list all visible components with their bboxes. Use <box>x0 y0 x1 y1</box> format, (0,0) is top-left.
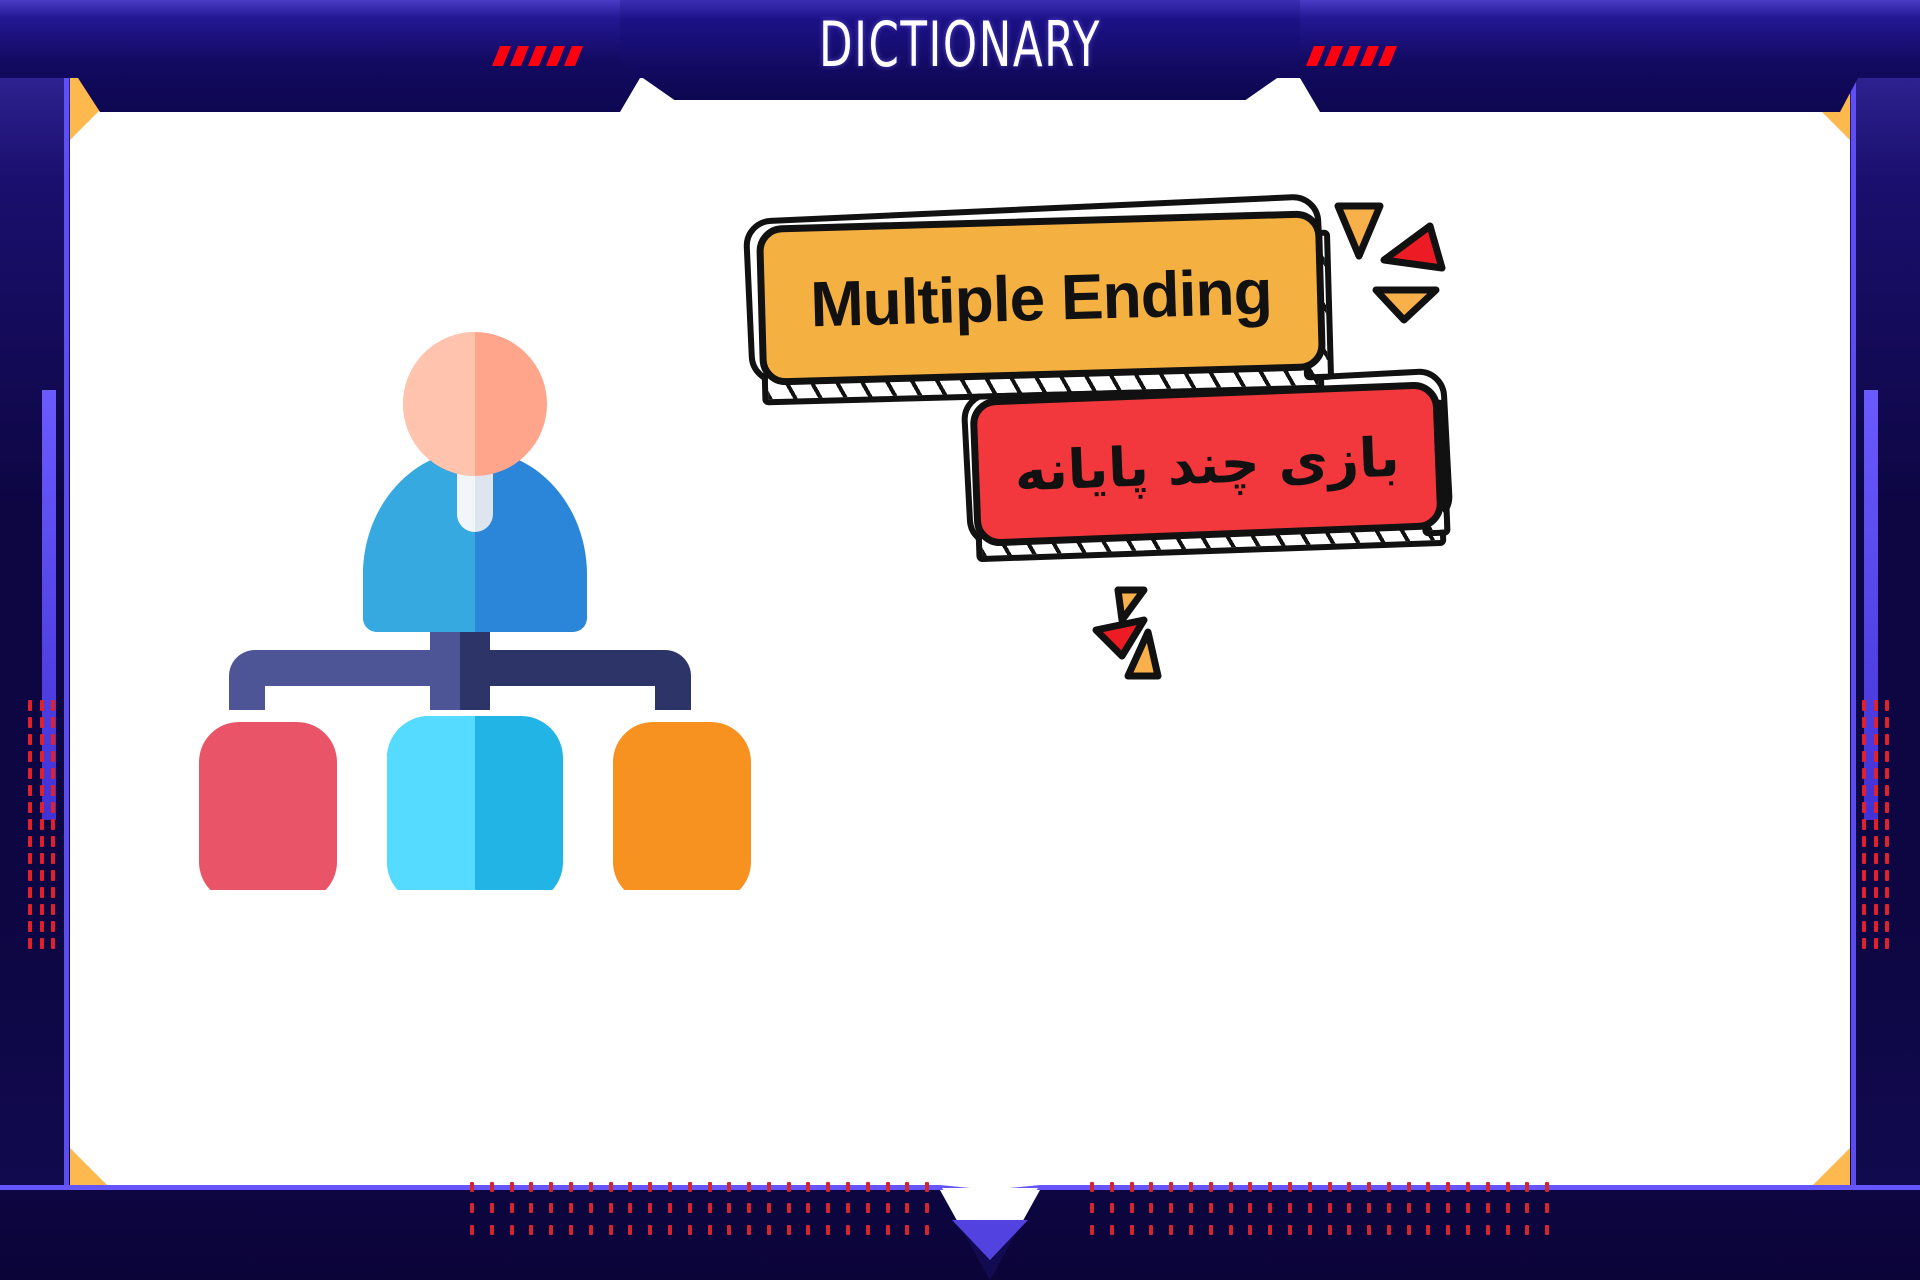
dot <box>1347 1182 1351 1192</box>
dot <box>826 1225 830 1235</box>
dot <box>925 1203 929 1213</box>
side-dot-grid-left <box>28 700 58 930</box>
dot <box>1874 836 1878 847</box>
dot <box>40 768 44 779</box>
dot <box>470 1182 474 1192</box>
dot <box>28 700 32 711</box>
dot <box>1862 904 1866 915</box>
dot <box>1347 1203 1351 1213</box>
dot <box>1874 921 1878 932</box>
dot <box>806 1182 810 1192</box>
dot <box>1486 1225 1490 1235</box>
dot <box>1885 819 1889 830</box>
dot <box>1110 1203 1114 1213</box>
dot <box>846 1182 850 1192</box>
dot <box>1229 1203 1233 1213</box>
dot <box>549 1225 553 1235</box>
sparkle-cluster-top-right <box>1318 198 1468 328</box>
dot <box>886 1225 890 1235</box>
dot <box>648 1225 652 1235</box>
dot <box>1229 1182 1233 1192</box>
dot <box>1189 1225 1193 1235</box>
dot <box>51 938 55 949</box>
english-term-label: Multiple Ending <box>809 255 1272 342</box>
org-chart-svg <box>195 330 755 890</box>
dot <box>28 717 32 728</box>
dot <box>529 1225 533 1235</box>
dot <box>1506 1225 1510 1235</box>
dot <box>1506 1182 1510 1192</box>
dot <box>40 717 44 728</box>
dot <box>1149 1203 1153 1213</box>
dot <box>747 1182 751 1192</box>
dot <box>846 1203 850 1213</box>
dot <box>866 1225 870 1235</box>
dot <box>668 1225 672 1235</box>
dot <box>569 1225 573 1235</box>
dot <box>51 751 55 762</box>
dot <box>1874 819 1878 830</box>
dot <box>905 1182 909 1192</box>
dot <box>51 785 55 796</box>
hash-mark <box>1342 46 1361 66</box>
dot <box>51 802 55 813</box>
dot <box>787 1182 791 1192</box>
dot <box>866 1182 870 1192</box>
dot <box>40 853 44 864</box>
dot <box>28 904 32 915</box>
dot <box>28 870 32 881</box>
dot <box>1525 1182 1529 1192</box>
page-title: DICTIONARY <box>695 8 1225 81</box>
dot <box>40 802 44 813</box>
dot <box>1308 1225 1312 1235</box>
dot <box>1885 751 1889 762</box>
hashmarks-right <box>1310 46 1393 66</box>
dot <box>688 1225 692 1235</box>
dot <box>1874 768 1878 779</box>
dot <box>549 1203 553 1213</box>
footer-dot-grid-right <box>1090 1182 1560 1242</box>
sparkle-cluster-bottom-left <box>1086 576 1216 696</box>
dot <box>470 1203 474 1213</box>
dot <box>826 1182 830 1192</box>
dot <box>846 1225 850 1235</box>
dot <box>1347 1225 1351 1235</box>
dot <box>1885 717 1889 728</box>
dot <box>51 717 55 728</box>
dot <box>1545 1225 1549 1235</box>
dot <box>28 802 32 813</box>
dot <box>28 853 32 864</box>
dot <box>727 1203 731 1213</box>
dot <box>1268 1182 1272 1192</box>
dot <box>1268 1225 1272 1235</box>
dot <box>28 921 32 932</box>
dot <box>1189 1203 1193 1213</box>
hash-mark <box>1360 46 1379 66</box>
dot <box>1862 785 1866 796</box>
dot <box>609 1225 613 1235</box>
dot <box>51 853 55 864</box>
english-term-label-box[interactable]: Multiple Ending <box>756 210 1326 386</box>
sparkle-cluster-top-right-svg <box>1318 198 1468 328</box>
dot <box>787 1225 791 1235</box>
dot <box>609 1203 613 1213</box>
dot <box>510 1203 514 1213</box>
dot <box>1090 1182 1094 1192</box>
dot <box>589 1225 593 1235</box>
dot <box>1862 802 1866 813</box>
dot <box>609 1182 613 1192</box>
dot <box>1525 1203 1529 1213</box>
dot <box>40 700 44 711</box>
dot <box>40 938 44 949</box>
dot <box>1189 1182 1193 1192</box>
dot <box>1130 1182 1134 1192</box>
dot <box>1407 1225 1411 1235</box>
dot <box>1874 734 1878 745</box>
dot <box>490 1203 494 1213</box>
dot <box>708 1182 712 1192</box>
dot <box>866 1203 870 1213</box>
dot <box>1862 751 1866 762</box>
dot <box>1506 1203 1510 1213</box>
dot <box>1426 1225 1430 1235</box>
dot <box>1130 1225 1134 1235</box>
dot <box>1367 1182 1371 1192</box>
dot <box>1885 836 1889 847</box>
hash-mark <box>528 46 547 66</box>
dot <box>747 1203 751 1213</box>
dot <box>40 751 44 762</box>
dot <box>28 836 32 847</box>
dot <box>1486 1182 1490 1192</box>
dot <box>1885 768 1889 779</box>
dot <box>1874 751 1878 762</box>
dot <box>40 819 44 830</box>
dot <box>1862 734 1866 745</box>
node-right <box>613 722 751 890</box>
dot <box>1874 785 1878 796</box>
dot <box>1328 1203 1332 1213</box>
dot <box>1308 1182 1312 1192</box>
dot <box>886 1182 890 1192</box>
dot <box>28 785 32 796</box>
dot <box>1525 1225 1529 1235</box>
dot <box>1885 700 1889 711</box>
dot <box>1367 1225 1371 1235</box>
dot <box>28 768 32 779</box>
dot <box>628 1182 632 1192</box>
dot <box>40 870 44 881</box>
dot <box>1407 1182 1411 1192</box>
dot <box>1169 1225 1173 1235</box>
persian-term-label-box[interactable]: بازی چند پایانه <box>969 381 1444 547</box>
dot <box>1545 1203 1549 1213</box>
dot <box>1874 802 1878 813</box>
dot <box>1862 819 1866 830</box>
dot <box>40 785 44 796</box>
dot <box>1248 1225 1252 1235</box>
dot <box>1486 1203 1490 1213</box>
dot <box>648 1182 652 1192</box>
dot <box>1446 1203 1450 1213</box>
dot <box>1862 853 1866 864</box>
dot <box>51 700 55 711</box>
dot <box>925 1182 929 1192</box>
dot <box>1885 921 1889 932</box>
dot <box>1288 1182 1292 1192</box>
side-dot-grid-right <box>1862 700 1892 930</box>
dot <box>708 1203 712 1213</box>
dot <box>40 904 44 915</box>
dot <box>727 1225 731 1235</box>
dot <box>1328 1225 1332 1235</box>
dot <box>767 1225 771 1235</box>
dot <box>589 1182 593 1192</box>
hash-mark <box>1324 46 1343 66</box>
dot <box>1874 853 1878 864</box>
dot <box>28 734 32 745</box>
dot <box>1885 853 1889 864</box>
dot <box>490 1182 494 1192</box>
dot <box>648 1203 652 1213</box>
dot <box>1862 836 1866 847</box>
dot <box>1874 870 1878 881</box>
dot <box>1328 1182 1332 1192</box>
dot <box>28 751 32 762</box>
dot <box>529 1182 533 1192</box>
dot <box>1874 700 1878 711</box>
dot <box>1862 887 1866 898</box>
dot <box>1110 1225 1114 1235</box>
header-title-tab: DICTIONARY <box>620 0 1300 100</box>
dot <box>51 887 55 898</box>
footer-dot-grid-left <box>470 1182 940 1242</box>
dot <box>787 1203 791 1213</box>
dot <box>1446 1182 1450 1192</box>
dot <box>1090 1203 1094 1213</box>
dot <box>51 921 55 932</box>
dot <box>826 1203 830 1213</box>
dot <box>1169 1182 1173 1192</box>
dot <box>1885 938 1889 949</box>
dot <box>40 921 44 932</box>
dot <box>668 1182 672 1192</box>
dot <box>806 1203 810 1213</box>
dot <box>1387 1225 1391 1235</box>
dot <box>549 1182 553 1192</box>
dot <box>727 1182 731 1192</box>
dot <box>28 938 32 949</box>
dot <box>510 1182 514 1192</box>
dot <box>1149 1182 1153 1192</box>
dot <box>1885 904 1889 915</box>
dot <box>1885 785 1889 796</box>
dot <box>28 819 32 830</box>
dot <box>569 1182 573 1192</box>
hash-mark <box>510 46 529 66</box>
dot <box>1874 938 1878 949</box>
dot <box>51 904 55 915</box>
dot <box>1288 1225 1292 1235</box>
dot <box>1446 1225 1450 1235</box>
org-chart-person-icon <box>195 330 755 890</box>
sparkle-triangle-yellow-2 <box>1376 290 1436 320</box>
dot <box>925 1225 929 1235</box>
dot <box>905 1203 909 1213</box>
node-center-left <box>387 716 475 890</box>
dot <box>490 1225 494 1235</box>
dot <box>1545 1182 1549 1192</box>
dot <box>806 1225 810 1235</box>
dot <box>1209 1203 1213 1213</box>
dot <box>1308 1203 1312 1213</box>
dot <box>1248 1182 1252 1192</box>
sparkle-triangle-yellow <box>1118 590 1144 620</box>
dot <box>628 1203 632 1213</box>
dot <box>1466 1225 1470 1235</box>
dot <box>1426 1182 1430 1192</box>
dot <box>1874 717 1878 728</box>
dot <box>767 1182 771 1192</box>
dot <box>668 1203 672 1213</box>
dot <box>747 1225 751 1235</box>
dot <box>1862 700 1866 711</box>
dot <box>688 1203 692 1213</box>
dot <box>1874 904 1878 915</box>
dot <box>1407 1203 1411 1213</box>
dot <box>28 887 32 898</box>
dot <box>529 1203 533 1213</box>
dot <box>51 819 55 830</box>
dot <box>767 1203 771 1213</box>
dot <box>628 1225 632 1235</box>
slide-root: DICTIONARY <box>0 0 1920 1280</box>
sparkle-cluster-bottom-left-svg <box>1086 576 1216 696</box>
dot <box>1862 870 1866 881</box>
dot <box>40 887 44 898</box>
persian-term-label: بازی چند پایانه <box>1013 425 1400 503</box>
dot <box>1169 1203 1173 1213</box>
dot <box>589 1203 593 1213</box>
hash-mark <box>546 46 565 66</box>
dot <box>569 1203 573 1213</box>
dot <box>1426 1203 1430 1213</box>
dot <box>1874 887 1878 898</box>
dot <box>1288 1203 1292 1213</box>
dot <box>510 1225 514 1235</box>
dot <box>1209 1225 1213 1235</box>
dot <box>1209 1182 1213 1192</box>
dot <box>1248 1203 1252 1213</box>
dot <box>51 836 55 847</box>
dot <box>886 1203 890 1213</box>
dot <box>1367 1203 1371 1213</box>
dot <box>1149 1225 1153 1235</box>
dot <box>688 1182 692 1192</box>
dot <box>1862 921 1866 932</box>
dot <box>1862 717 1866 728</box>
dot <box>51 870 55 881</box>
dot <box>1885 802 1889 813</box>
dot <box>708 1225 712 1235</box>
dot <box>470 1225 474 1235</box>
dot <box>1862 938 1866 949</box>
sparkle-triangle-yellow <box>1338 206 1380 256</box>
node-left <box>199 722 337 890</box>
dot <box>1110 1182 1114 1192</box>
dot <box>1268 1203 1272 1213</box>
dot <box>1130 1203 1134 1213</box>
dot <box>1862 768 1866 779</box>
dot <box>51 768 55 779</box>
dot <box>1885 870 1889 881</box>
dot <box>905 1225 909 1235</box>
sparkle-triangle-red <box>1384 226 1442 268</box>
dot <box>1387 1182 1391 1192</box>
person-head-left <box>403 332 475 476</box>
hashmarks-left <box>496 46 579 66</box>
dot <box>1885 887 1889 898</box>
dot <box>1466 1182 1470 1192</box>
dot <box>1885 734 1889 745</box>
dot <box>40 734 44 745</box>
dot <box>1229 1225 1233 1235</box>
dot <box>1466 1203 1470 1213</box>
dot <box>1387 1203 1391 1213</box>
dot <box>1090 1225 1094 1235</box>
dot <box>51 734 55 745</box>
dot <box>40 836 44 847</box>
